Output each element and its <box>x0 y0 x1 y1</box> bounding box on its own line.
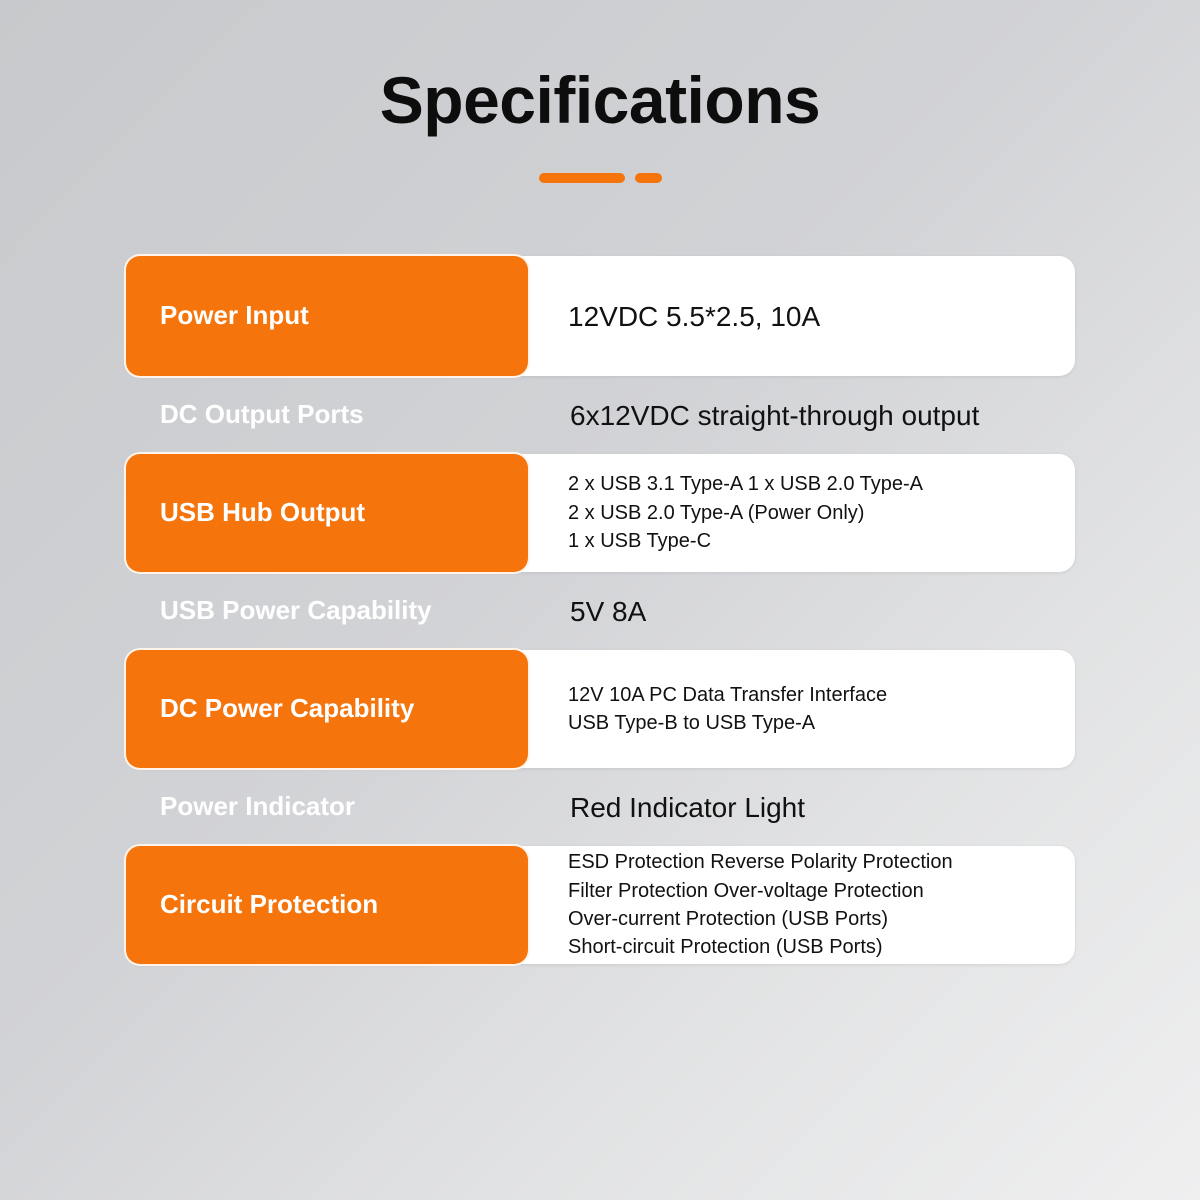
specifications-page: Specifications Power Input12VDC 5.5*2.5,… <box>0 0 1200 1200</box>
spec-label: Power Input <box>124 254 530 378</box>
spec-row: DC Output Ports6x12VDC straight-through … <box>126 383 1075 447</box>
spec-value: 2 x USB 3.1 Type-A 1 x USB 2.0 Type-A2 x… <box>530 454 1075 572</box>
spec-value: 12V 10A PC Data Transfer InterfaceUSB Ty… <box>530 650 1075 768</box>
spec-label: Power Indicator <box>126 775 532 839</box>
spec-value-line: 12VDC 5.5*2.5, 10A <box>568 299 1055 334</box>
title-divider <box>0 173 1200 183</box>
spec-value-line: ESD Protection Reverse Polarity Protecti… <box>568 848 1055 876</box>
spec-value-line: 1 x USB Type-C <box>568 527 1055 555</box>
spec-row: USB Hub Output2 x USB 3.1 Type-A 1 x USB… <box>126 454 1075 572</box>
page-title: Specifications <box>0 66 1200 135</box>
spec-value-line: 2 x USB 3.1 Type-A 1 x USB 2.0 Type-A <box>568 470 1055 498</box>
spec-value-line: USB Type-B to USB Type-A <box>568 709 1055 737</box>
spec-row: Power Input12VDC 5.5*2.5, 10A <box>126 256 1075 376</box>
spec-label: DC Power Capability <box>124 648 530 770</box>
spec-value: ESD Protection Reverse Polarity Protecti… <box>530 846 1075 964</box>
spec-value-line: 2 x USB 2.0 Type-A (Power Only) <box>568 499 1055 527</box>
spec-label: USB Hub Output <box>124 452 530 574</box>
spec-value: 12VDC 5.5*2.5, 10A <box>530 256 1075 376</box>
spec-value-line: 5V 8A <box>570 594 1055 629</box>
divider-dash-short <box>635 173 662 183</box>
spec-value: 5V 8A <box>532 579 1075 643</box>
spec-label: DC Output Ports <box>126 383 532 447</box>
spec-value-line: 6x12VDC straight-through output <box>570 398 1055 433</box>
spec-value-line: 12V 10A PC Data Transfer Interface <box>568 681 1055 709</box>
spec-value-line: Over-current Protection (USB Ports) <box>568 905 1055 933</box>
spec-value-line: Short-circuit Protection (USB Ports) <box>568 933 1055 961</box>
spec-label: Circuit Protection <box>124 844 530 966</box>
spec-value: Red Indicator Light <box>532 775 1075 839</box>
spec-row: DC Power Capability12V 10A PC Data Trans… <box>126 650 1075 768</box>
spec-row: Circuit ProtectionESD Protection Reverse… <box>126 846 1075 964</box>
spec-label: USB Power Capability <box>126 579 532 643</box>
spec-value-line: Filter Protection Over-voltage Protectio… <box>568 877 1055 905</box>
spec-value-line: Red Indicator Light <box>570 790 1055 825</box>
spec-value: 6x12VDC straight-through output <box>532 383 1075 447</box>
specifications-table: Power Input12VDC 5.5*2.5, 10ADC Output P… <box>126 256 1075 971</box>
page-header: Specifications <box>0 0 1200 183</box>
spec-row: Power IndicatorRed Indicator Light <box>126 775 1075 839</box>
divider-dash-long <box>539 173 625 183</box>
spec-row: USB Power Capability5V 8A <box>126 579 1075 643</box>
